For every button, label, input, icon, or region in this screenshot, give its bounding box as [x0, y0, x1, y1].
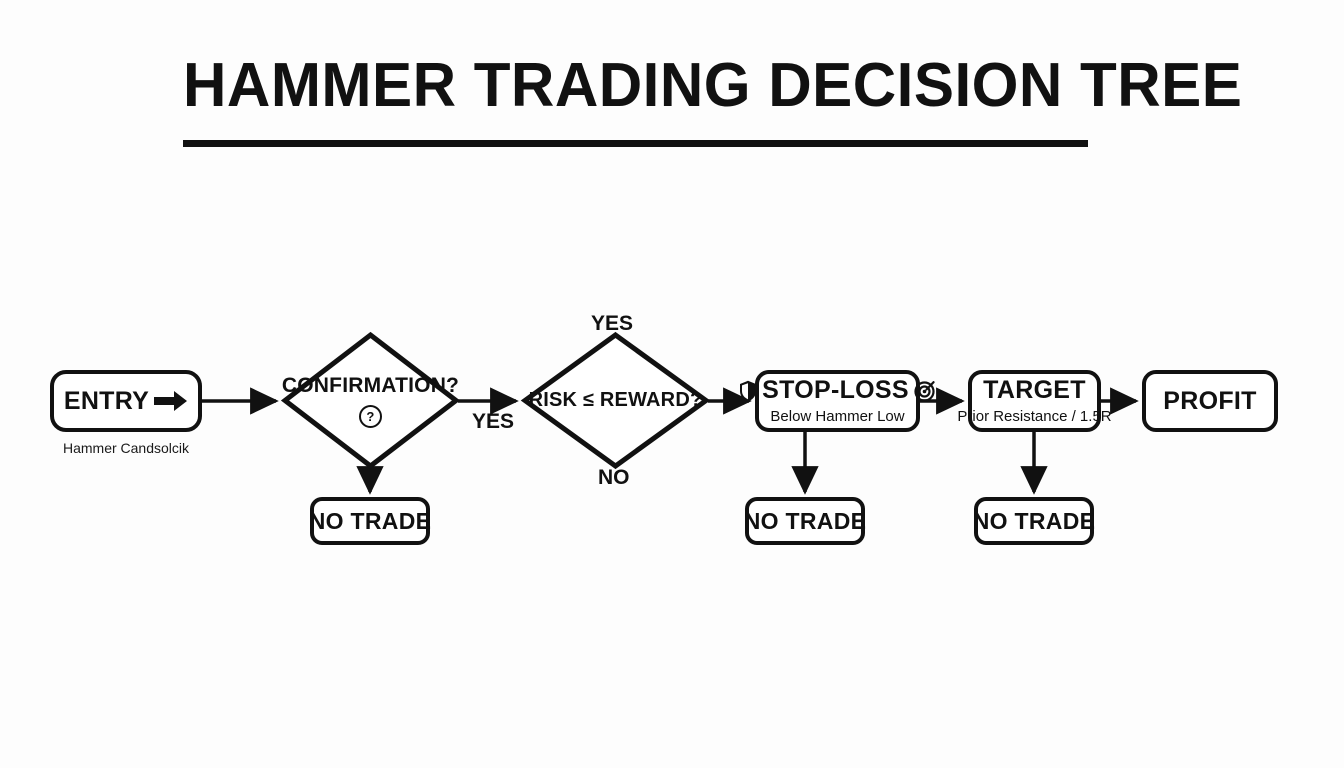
node-stop-loss[interactable]: STOP-LOSS Below Hammer Low	[755, 370, 920, 432]
edge-label-risk-yes: YES	[591, 312, 633, 336]
node-entry-label: ENTRY	[64, 389, 149, 414]
entry-content: ENTRY	[64, 389, 188, 414]
node-confirmation[interactable]: CONFIRMATION? ?	[283, 333, 458, 468]
diamond-confirmation-outline	[285, 335, 456, 466]
node-no-trade-3[interactable]: NO TRADE	[974, 497, 1094, 545]
confirmation-content: CONFIRMATION? ?	[283, 333, 458, 468]
node-entry-caption: Hammer Candsolcik	[50, 440, 202, 456]
node-profit-label: PROFIT	[1163, 389, 1256, 414]
target-icon	[914, 380, 936, 402]
decision-tree-diagram: ENTRY Hammer Candsolcik CONFIRMATION? ? …	[0, 0, 1344, 768]
node-no-trade-1[interactable]: NO TRADE	[310, 497, 430, 545]
edge-label-risk-no: NO	[598, 466, 630, 490]
node-risk-reward[interactable]: RISK ≤ REWARD?	[523, 333, 708, 468]
node-target-label: TARGET	[983, 378, 1086, 403]
risk-reward-content: RISK ≤ REWARD?	[523, 333, 708, 468]
arrow-right-icon	[154, 390, 188, 412]
node-no-trade-2-label: NO TRADE	[744, 510, 867, 533]
node-target-subtitle: Prior Resistance / 1.5R	[957, 409, 1111, 424]
node-stop-loss-label: STOP-LOSS	[762, 378, 909, 403]
shield-icon	[739, 380, 757, 402]
diamond-risk-outline	[525, 335, 706, 466]
node-confirmation-label: CONFIRMATION?	[282, 374, 459, 398]
node-target[interactable]: TARGET Prior Resistance / 1.5R	[968, 370, 1101, 432]
node-profit[interactable]: PROFIT	[1142, 370, 1278, 432]
question-circle-icon: ?	[359, 405, 382, 428]
node-no-trade-3-label: NO TRADE	[973, 510, 1096, 533]
node-stop-loss-subtitle: Below Hammer Low	[770, 409, 904, 424]
node-no-trade-2[interactable]: NO TRADE	[745, 497, 865, 545]
edge-label-confirmation-yes: YES	[472, 410, 514, 434]
node-risk-reward-label: RISK ≤ REWARD?	[529, 389, 703, 412]
node-no-trade-1-label: NO TRADE	[309, 510, 432, 533]
node-entry[interactable]: ENTRY	[50, 370, 202, 432]
stop-loss-title-row: STOP-LOSS	[739, 378, 936, 403]
